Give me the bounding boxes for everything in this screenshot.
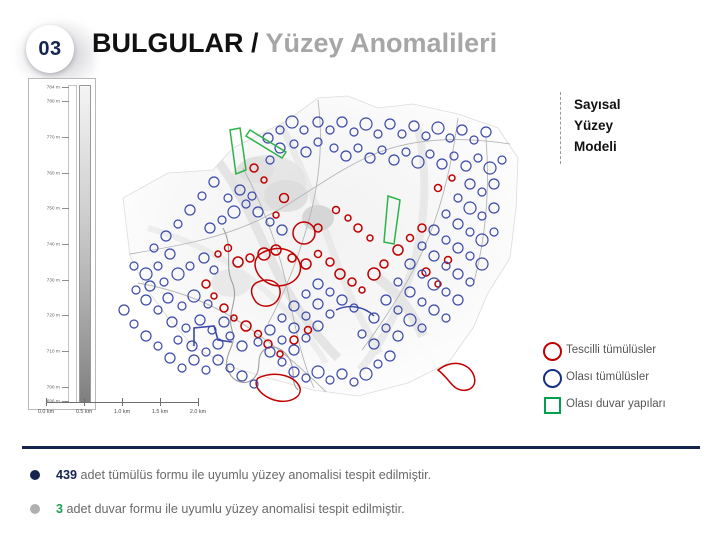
section-divider xyxy=(22,446,700,449)
wall-structure-icon xyxy=(540,393,566,415)
elevation-color-ramp xyxy=(79,85,91,403)
elevation-tick xyxy=(62,351,69,352)
slide-root: 03 BULGULAR / Yüzey Anomalileri xyxy=(0,0,720,540)
scale-tick-label: 0.0 km xyxy=(38,409,54,415)
dsm-label-line-2: Yüzey xyxy=(574,115,621,136)
elevation-tick xyxy=(62,280,69,281)
finding-row-wall: 3 adet duvar formu ile uyumlu yüzey anom… xyxy=(22,492,682,526)
finding-bullet-navy xyxy=(30,470,40,480)
terrain-layer xyxy=(123,96,518,396)
section-number-badge: 03 xyxy=(26,25,74,73)
scale-tick xyxy=(198,398,199,406)
legend-item-wall: Olası duvar yapıları xyxy=(540,390,716,417)
elevation-tick xyxy=(62,208,69,209)
finding-text-wall: 3 adet duvar formu ile uyumlu yüzey anom… xyxy=(56,502,405,516)
map-figure: 784 m780 m770 m760 m750 m740 m730 m720 m… xyxy=(18,78,548,418)
finding-bullet-gray xyxy=(30,504,40,514)
elevation-tick-label: 784 m xyxy=(47,85,60,90)
dsm-divider xyxy=(560,92,561,164)
elevation-tick-label: 760 m xyxy=(47,170,60,175)
findings-list: 439 adet tümülüs formu ile uyumlu yüzey … xyxy=(22,458,682,526)
title-main: BULGULAR xyxy=(92,28,243,58)
dsm-label: Sayısal Yüzey Modeli xyxy=(574,94,621,157)
registered-tumulus-icon xyxy=(540,339,566,361)
elevation-tick-label: 770 m xyxy=(47,134,60,139)
finding-count-tumulus: 439 xyxy=(56,468,77,482)
distance-scale-bar: 0.0 km0.5 km1.0 km1.5 km2.0 km xyxy=(36,396,212,428)
elevation-tick-label: 750 m xyxy=(47,206,60,211)
elevation-tick-label: 740 m xyxy=(47,242,60,247)
legend-label-possible: Olası tümülüsler xyxy=(566,371,649,383)
scale-tick-label: 1.5 km xyxy=(152,409,168,415)
scale-tick xyxy=(160,398,161,406)
scale-tick-label: 1.0 km xyxy=(114,409,130,415)
elevation-legend: 784 m780 m770 m760 m750 m740 m730 m720 m… xyxy=(28,78,96,410)
legend-item-possible: Olası tümülüsler xyxy=(540,363,716,390)
page-title: BULGULAR / Yüzey Anomalileri xyxy=(92,28,497,59)
surface-anomaly-map xyxy=(18,78,548,418)
finding-text-tumulus: 439 adet tümülüs formu ile uyumlu yüzey … xyxy=(56,468,431,482)
scale-tick-label: 0.5 km xyxy=(76,409,92,415)
elevation-tick xyxy=(62,315,69,316)
elevation-tick xyxy=(62,101,69,102)
legend-label-registered: Tescilli tümülüsler xyxy=(566,344,656,356)
elevation-tick xyxy=(62,137,69,138)
finding-body-wall: adet duvar formu ile uyumlu yüzey anomal… xyxy=(63,502,405,516)
map-legend: Tescilli tümülüsler Olası tümülüsler Ola… xyxy=(540,336,716,417)
dsm-label-line-1: Sayısal xyxy=(574,94,621,115)
legend-item-registered: Tescilli tümülüsler xyxy=(540,336,716,363)
scale-tick xyxy=(122,398,123,406)
finding-body-tumulus: adet tümülüs formu ile uyumlu yüzey anom… xyxy=(77,468,431,482)
elevation-tick xyxy=(62,87,69,88)
elevation-tick-label: 780 m xyxy=(47,99,60,104)
dsm-label-line-3: Modeli xyxy=(574,136,621,157)
title-subtitle: Yüzey Anomalileri xyxy=(266,28,498,58)
title-separator: / xyxy=(251,28,259,58)
section-number: 03 xyxy=(38,38,61,61)
elevation-tick-label: 710 m xyxy=(47,349,60,354)
scale-tick xyxy=(46,398,47,406)
elevation-tick xyxy=(62,244,69,245)
elevation-tick xyxy=(62,387,69,388)
elevation-tick xyxy=(62,173,69,174)
elevation-tick-label: 700 m xyxy=(47,384,60,389)
elevation-tick-label: 720 m xyxy=(47,313,60,318)
finding-count-wall: 3 xyxy=(56,502,63,516)
finding-row-tumulus: 439 adet tümülüs formu ile uyumlu yüzey … xyxy=(22,458,682,492)
elevation-tick-label: 730 m xyxy=(47,277,60,282)
scale-tick-label: 2.0 km xyxy=(190,409,206,415)
scale-tick xyxy=(84,398,85,406)
possible-tumulus-icon xyxy=(540,366,566,388)
legend-label-wall: Olası duvar yapıları xyxy=(566,398,666,410)
elevation-ramp-secondary xyxy=(68,85,77,403)
